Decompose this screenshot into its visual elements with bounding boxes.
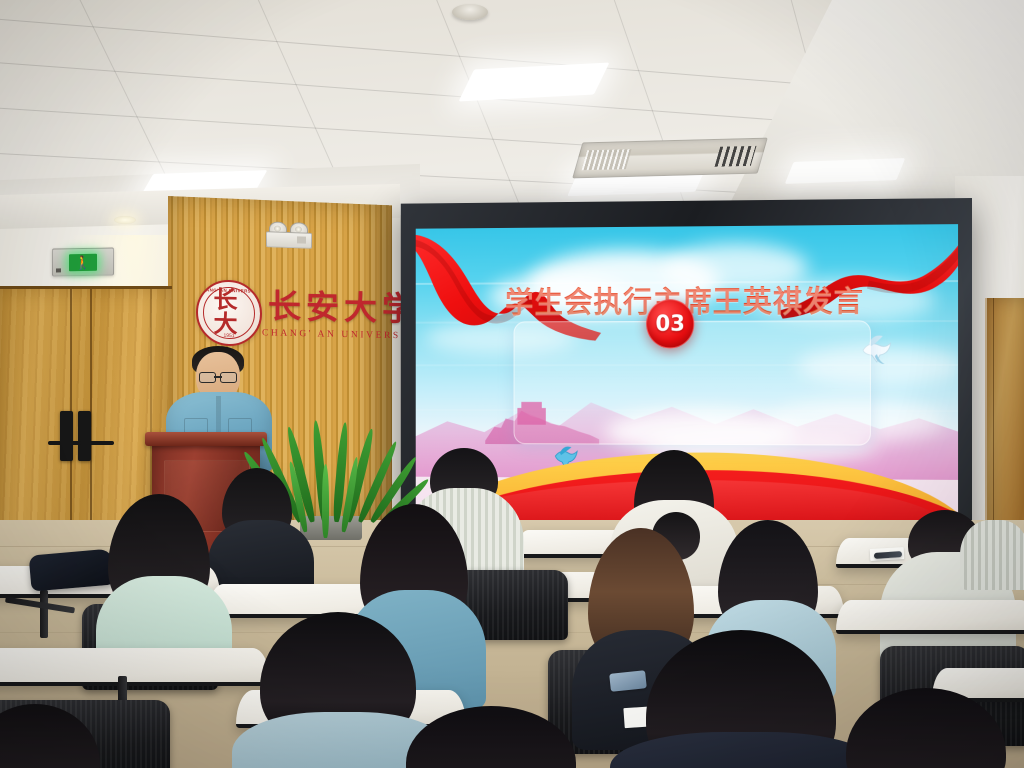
door-handle[interactable] (48, 441, 82, 445)
desk (836, 600, 1024, 634)
smoke-detector-icon (452, 4, 488, 20)
backpack (29, 548, 116, 591)
desk-leg (40, 590, 48, 638)
slide-content-card (514, 320, 871, 445)
exit-sign-test-button[interactable] (56, 268, 61, 272)
slide-section-number: 03 (655, 312, 685, 337)
slide-section-badge: 03 (646, 299, 694, 348)
door-handle[interactable] (80, 441, 114, 445)
glasses-icon (199, 372, 237, 381)
desk (0, 648, 270, 686)
door-lock-icon[interactable] (78, 411, 91, 461)
university-logo: CHANG' AN UNIVERSITY 长大 1951 (196, 279, 262, 347)
emergency-twin-spot-light (266, 221, 310, 249)
logo-emblem: 长大 (214, 288, 245, 337)
classroom-presentation-photo: 🚶 CHANG' AN UNIVERSITY 长大 1951 长安大学 CHAN… (0, 0, 1024, 768)
emergency-light-body (266, 231, 312, 249)
university-name-cn: 长安大学 (268, 279, 420, 330)
air-conditioner-vent (572, 138, 768, 179)
running-man-icon: 🚶 (69, 253, 97, 270)
student-torso (960, 520, 1024, 590)
downlight-icon (114, 216, 136, 224)
smartphone[interactable] (609, 670, 647, 692)
emergency-exit-sign: 🚶 (52, 247, 114, 276)
ceiling-light-panel (785, 158, 905, 184)
door-lock-icon[interactable] (60, 411, 73, 461)
